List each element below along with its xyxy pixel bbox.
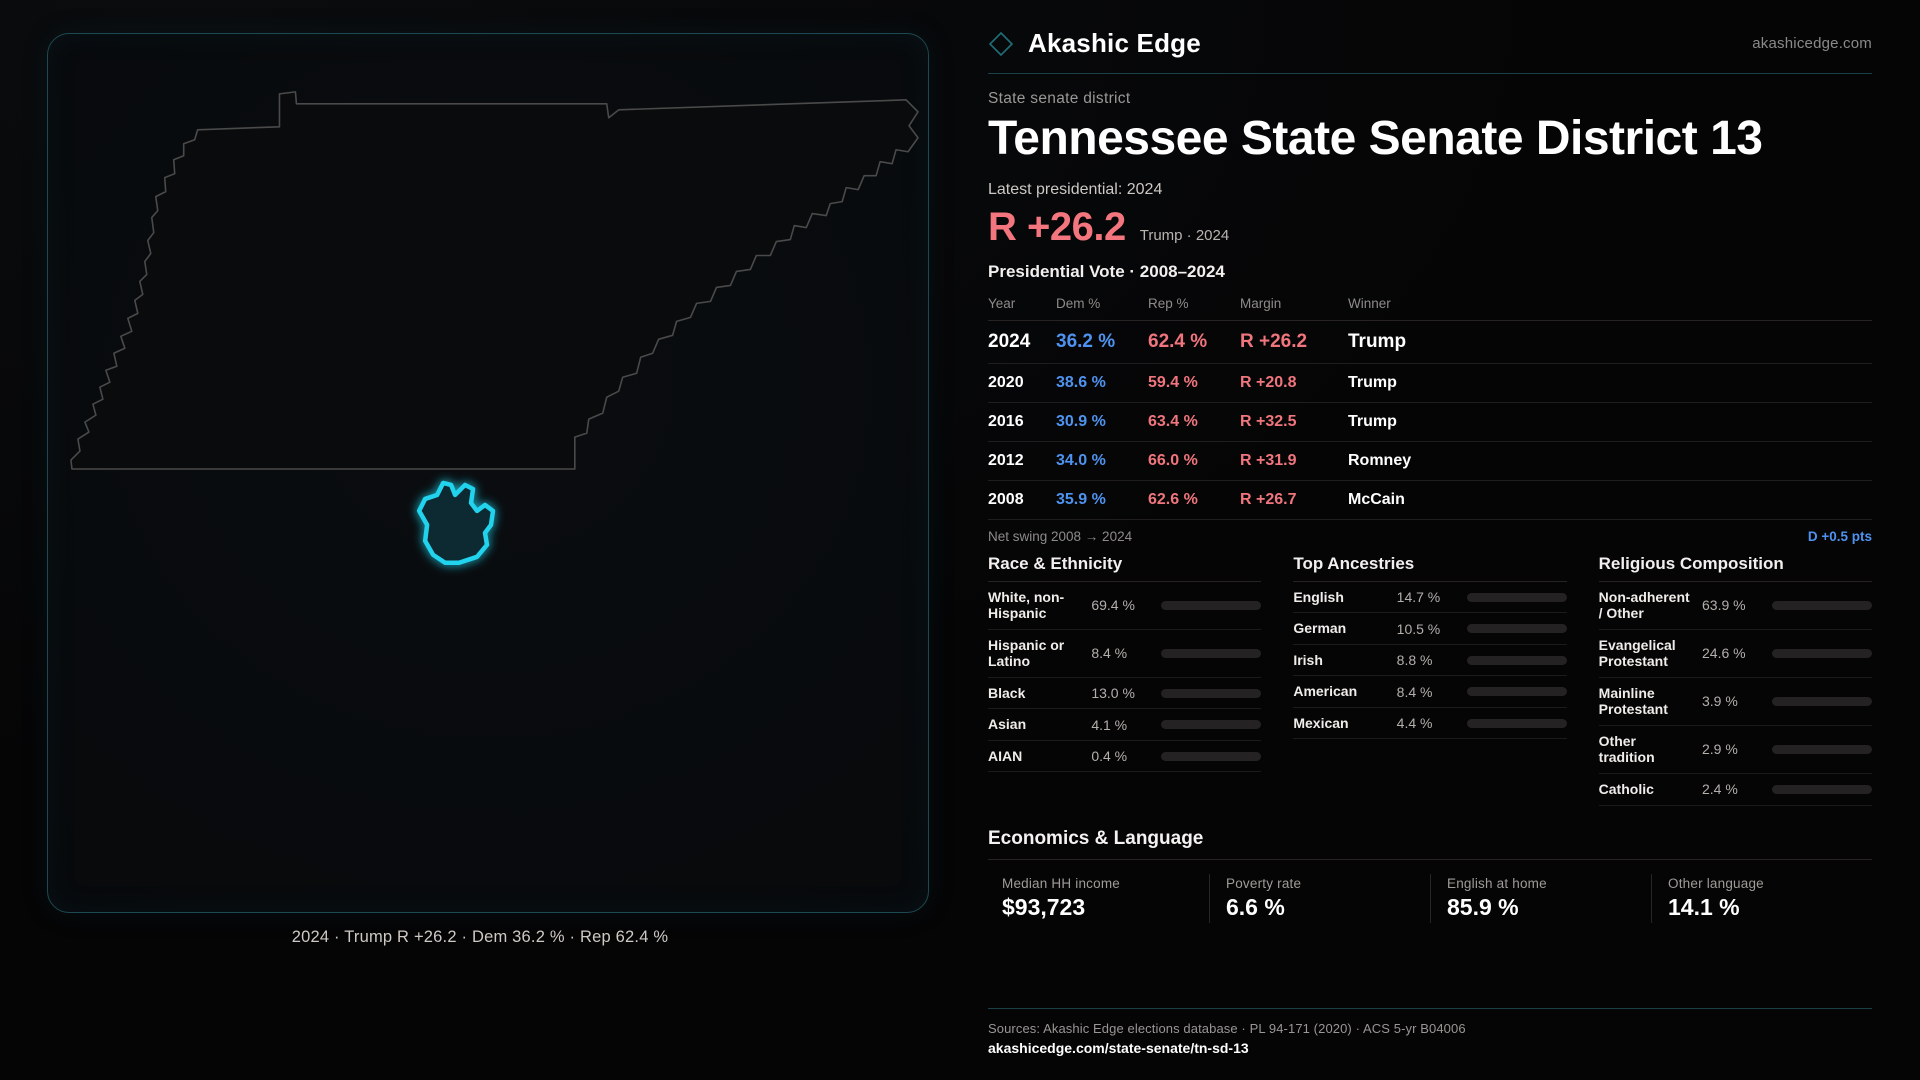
- row-value: 3.9 %: [1702, 693, 1764, 709]
- list-item[interactable]: Other tradition 2.9 %: [1599, 726, 1872, 774]
- cell-margin: R +31.9: [1240, 441, 1348, 480]
- economics-grid: Median HH income $93,723 Poverty rate 6.…: [988, 874, 1872, 923]
- row-value: 13.0 %: [1091, 685, 1153, 701]
- footer-sources: Sources: Akashic Edge elections database…: [988, 1021, 1872, 1036]
- row-value: 8.4 %: [1091, 645, 1153, 661]
- row-label: American: [1293, 683, 1388, 700]
- top-ancestries-column: Top Ancestries English 14.7 % German 10.…: [1293, 554, 1566, 806]
- list-item[interactable]: Mainline Protestant 3.9 %: [1599, 678, 1872, 726]
- table-row[interactable]: 2008 35.9 % 62.6 % R +26.7 McCain: [988, 480, 1872, 519]
- row-value: 14.7 %: [1397, 589, 1459, 605]
- map-column: 2024 · Trump R +26.2 · Dem 36.2 % · Rep …: [0, 0, 960, 1080]
- list-item[interactable]: Black 13.0 %: [988, 678, 1261, 710]
- cell-dem: 38.6 %: [1056, 363, 1148, 402]
- row-value: 0.4 %: [1091, 748, 1153, 764]
- stat-card: Median HH income $93,723: [988, 874, 1209, 923]
- page-kicker: State senate district: [988, 90, 1872, 108]
- page-title: Tennessee State Senate District 13: [988, 114, 1872, 165]
- race-ethnicity-column: Race & Ethnicity White, non-Hispanic 69.…: [988, 554, 1261, 806]
- religious-composition-column: Religious Composition Non-adherent / Oth…: [1599, 554, 1872, 806]
- footer-url[interactable]: akashicedge.com/state-senate/tn-sd-13: [988, 1040, 1872, 1056]
- brand-left: Akashic Edge: [988, 28, 1201, 59]
- row-bar: [1467, 719, 1567, 728]
- list-item[interactable]: Catholic 2.4 %: [1599, 774, 1872, 806]
- row-label: Irish: [1293, 652, 1388, 669]
- cell-margin: R +26.2: [1240, 320, 1348, 363]
- headline-margin-value: R +26.2: [988, 205, 1126, 250]
- row-label: Catholic: [1599, 781, 1694, 798]
- cell-winner: Trump: [1348, 363, 1872, 402]
- row-value: 24.6 %: [1702, 645, 1764, 661]
- stat-label: English at home: [1447, 876, 1651, 891]
- list-item[interactable]: English 14.7 %: [1293, 582, 1566, 614]
- cell-winner: Trump: [1348, 320, 1872, 363]
- stat-value: $93,723: [1002, 894, 1209, 921]
- row-label: Hispanic or Latino: [988, 637, 1083, 670]
- stat-value: 14.1 %: [1668, 894, 1872, 921]
- cell-rep: 59.4 %: [1148, 363, 1240, 402]
- row-bar: [1772, 745, 1872, 754]
- stat-card: English at home 85.9 %: [1430, 874, 1651, 923]
- stat-label: Poverty rate: [1226, 876, 1430, 891]
- diamond-logo-icon: [988, 31, 1014, 57]
- stat-card: Other language 14.1 %: [1651, 874, 1872, 923]
- list-item[interactable]: Asian 4.1 %: [988, 709, 1261, 741]
- race-ethnicity-title: Race & Ethnicity: [988, 554, 1261, 582]
- stat-card: Poverty rate 6.6 %: [1209, 874, 1430, 923]
- cell-margin: R +20.8: [1240, 363, 1348, 402]
- row-bar: [1467, 593, 1567, 602]
- row-label: German: [1293, 620, 1388, 637]
- col-margin: Margin: [1240, 292, 1348, 321]
- religious-composition-title: Religious Composition: [1599, 554, 1872, 582]
- cell-rep: 62.4 %: [1148, 320, 1240, 363]
- cell-margin: R +26.7: [1240, 480, 1348, 519]
- cell-dem: 36.2 %: [1056, 320, 1148, 363]
- row-bar: [1772, 785, 1872, 794]
- headline-margin: R +26.2 Trump · 2024: [988, 205, 1872, 250]
- row-label: Other tradition: [1599, 733, 1694, 766]
- cell-dem: 35.9 %: [1056, 480, 1148, 519]
- row-label: Non-adherent / Other: [1599, 589, 1694, 622]
- col-dem: Dem %: [1056, 292, 1148, 321]
- col-rep: Rep %: [1148, 292, 1240, 321]
- list-item[interactable]: Non-adherent / Other 63.9 %: [1599, 582, 1872, 630]
- row-label: Black: [988, 685, 1083, 702]
- presidential-vote-table: Year Dem % Rep % Margin Winner 2024 36.2…: [988, 292, 1872, 520]
- net-swing-row: Net swing 2008 → 2024 D +0.5 pts: [988, 520, 1872, 544]
- list-item[interactable]: American 8.4 %: [1293, 676, 1566, 708]
- demographics-grid: Race & Ethnicity White, non-Hispanic 69.…: [988, 554, 1872, 806]
- row-bar: [1772, 697, 1872, 706]
- stat-value: 6.6 %: [1226, 894, 1430, 921]
- row-label: Asian: [988, 716, 1083, 733]
- map-panel[interactable]: [47, 33, 929, 913]
- row-bar: [1467, 687, 1567, 696]
- col-year: Year: [988, 292, 1056, 321]
- table-row[interactable]: 2016 30.9 % 63.4 % R +32.5 Trump: [988, 402, 1872, 441]
- table-header-row: Year Dem % Rep % Margin Winner: [988, 292, 1872, 321]
- footer: Sources: Akashic Edge elections database…: [988, 1008, 1872, 1056]
- row-label: AIAN: [988, 748, 1083, 765]
- page-root: 2024 · Trump R +26.2 · Dem 36.2 % · Rep …: [0, 0, 1920, 1080]
- row-label: Mexican: [1293, 715, 1388, 732]
- cell-winner: Trump: [1348, 402, 1872, 441]
- list-item[interactable]: Mexican 4.4 %: [1293, 708, 1566, 740]
- row-bar: [1161, 720, 1261, 729]
- cell-year: 2012: [988, 441, 1056, 480]
- cell-rep: 63.4 %: [1148, 402, 1240, 441]
- cell-year: 2016: [988, 402, 1056, 441]
- top-ancestries-title: Top Ancestries: [1293, 554, 1566, 582]
- tennessee-outline: [71, 92, 918, 469]
- row-bar: [1772, 601, 1872, 610]
- cell-year: 2024: [988, 320, 1056, 363]
- list-item[interactable]: Evangelical Protestant 24.6 %: [1599, 630, 1872, 678]
- sidebar-panel: Akashic Edge akashicedge.com State senat…: [960, 0, 1920, 1080]
- cell-margin: R +32.5: [1240, 402, 1348, 441]
- net-swing-value: D +0.5 pts: [1808, 529, 1872, 544]
- net-swing-label: Net swing 2008 → 2024: [988, 529, 1132, 544]
- cell-year: 2020: [988, 363, 1056, 402]
- cell-year: 2008: [988, 480, 1056, 519]
- row-bar: [1467, 656, 1567, 665]
- economics-title: Economics & Language: [988, 828, 1872, 860]
- row-value: 63.9 %: [1702, 597, 1764, 613]
- row-bar: [1161, 649, 1261, 658]
- headline-margin-sub: Trump · 2024: [1140, 227, 1229, 244]
- row-value: 8.8 %: [1397, 652, 1459, 668]
- list-item[interactable]: German 10.5 %: [1293, 613, 1566, 645]
- presidential-vote-title: Presidential Vote · 2008–2024: [988, 262, 1872, 282]
- table-row[interactable]: 2024 36.2 % 62.4 % R +26.2 Trump: [988, 320, 1872, 363]
- stat-label: Other language: [1668, 876, 1872, 891]
- row-label: White, non-Hispanic: [988, 589, 1083, 622]
- row-bar: [1161, 601, 1261, 610]
- cell-winner: McCain: [1348, 480, 1872, 519]
- cell-rep: 66.0 %: [1148, 441, 1240, 480]
- table-row[interactable]: 2012 34.0 % 66.0 % R +31.9 Romney: [988, 441, 1872, 480]
- row-value: 4.4 %: [1397, 715, 1459, 731]
- cell-dem: 34.0 %: [1056, 441, 1148, 480]
- row-label: Evangelical Protestant: [1599, 637, 1694, 670]
- district-highlight[interactable]: [419, 483, 493, 563]
- brand-name: Akashic Edge: [1028, 28, 1201, 59]
- row-bar: [1772, 649, 1872, 658]
- row-value: 10.5 %: [1397, 621, 1459, 637]
- table-row[interactable]: 2020 38.6 % 59.4 % R +20.8 Trump: [988, 363, 1872, 402]
- row-bar: [1161, 689, 1261, 698]
- row-bar: [1467, 624, 1567, 633]
- brand-header: Akashic Edge akashicedge.com: [988, 28, 1872, 74]
- stat-label: Median HH income: [1002, 876, 1209, 891]
- latest-presidential-label: Latest presidential: 2024: [988, 181, 1872, 199]
- row-value: 8.4 %: [1397, 684, 1459, 700]
- cell-dem: 30.9 %: [1056, 402, 1148, 441]
- row-bar: [1161, 752, 1261, 761]
- row-value: 4.1 %: [1091, 717, 1153, 733]
- list-item[interactable]: White, non-Hispanic 69.4 %: [988, 582, 1261, 630]
- map-caption: 2024 · Trump R +26.2 · Dem 36.2 % · Rep …: [0, 928, 960, 947]
- list-item[interactable]: Hispanic or Latino 8.4 %: [988, 630, 1261, 678]
- row-value: 69.4 %: [1091, 597, 1153, 613]
- cell-winner: Romney: [1348, 441, 1872, 480]
- row-value: 2.9 %: [1702, 741, 1764, 757]
- row-value: 2.4 %: [1702, 781, 1764, 797]
- state-map-svg[interactable]: [48, 34, 928, 912]
- row-label: Mainline Protestant: [1599, 685, 1694, 718]
- cell-rep: 62.6 %: [1148, 480, 1240, 519]
- list-item[interactable]: AIAN 0.4 %: [988, 741, 1261, 773]
- row-label: English: [1293, 589, 1388, 606]
- stat-value: 85.9 %: [1447, 894, 1651, 921]
- col-winner: Winner: [1348, 292, 1872, 321]
- brand-url[interactable]: akashicedge.com: [1752, 35, 1872, 52]
- list-item[interactable]: Irish 8.8 %: [1293, 645, 1566, 677]
